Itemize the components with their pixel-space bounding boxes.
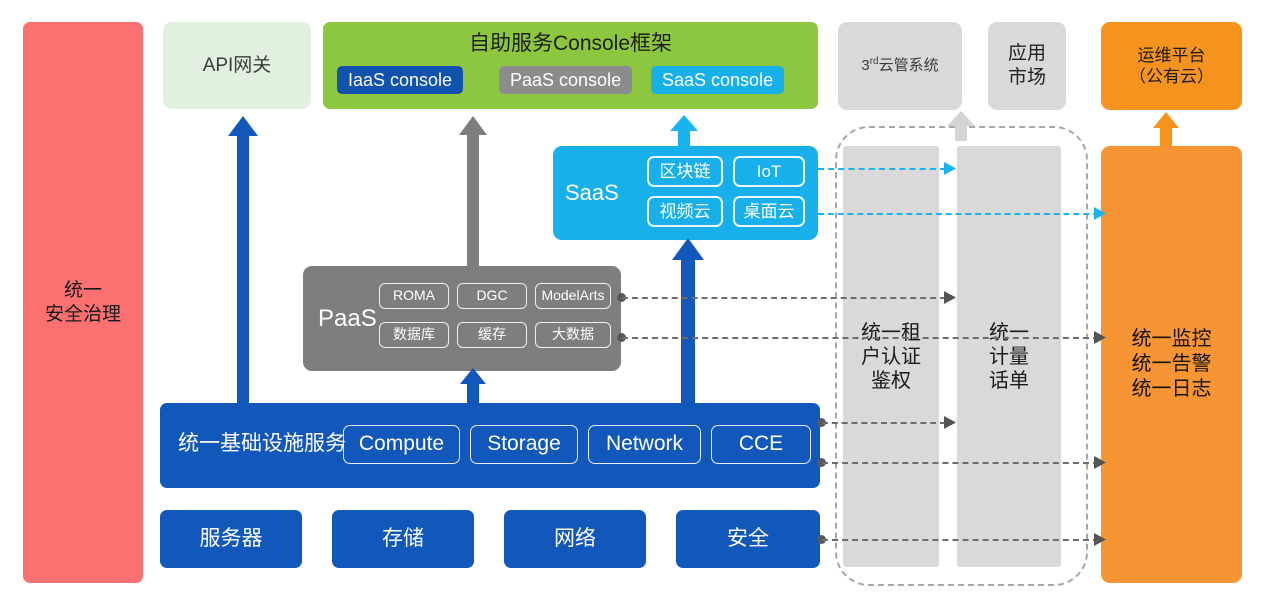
dashed-hardware-to-ops bbox=[822, 539, 1099, 541]
dashed-saas-to-ops bbox=[818, 213, 1099, 215]
paas-console-label: PaaS console bbox=[510, 69, 621, 92]
arrow-saas-to-console bbox=[669, 115, 699, 148]
security-governance-label: 统一 安全治理 bbox=[45, 279, 121, 327]
app-market-box[interactable]: 应用 市场 bbox=[988, 22, 1066, 110]
unified-metering-label: 统一 计量 话单 bbox=[989, 321, 1029, 393]
iaas-chip-label: Storage bbox=[487, 431, 561, 457]
paas-chip-cache[interactable]: 缓存 bbox=[457, 322, 527, 348]
hardware-label: 存储 bbox=[382, 526, 424, 552]
ops-platform-head-box[interactable]: 运维平台 （公有云） bbox=[1101, 22, 1242, 110]
paas-chip-modelarts[interactable]: ModelArts bbox=[535, 283, 611, 309]
saas-chip-label: 视频云 bbox=[660, 201, 711, 222]
paas-console-chip[interactable]: PaaS console bbox=[499, 66, 632, 94]
architecture-diagram: 统一 安全治理 API网关 自助服务Console框架 IaaS console… bbox=[0, 0, 1265, 605]
saas-layer-label: SaaS bbox=[565, 179, 619, 207]
ordinal-superscript: rd bbox=[870, 56, 879, 67]
iaas-chip-label: Network bbox=[606, 431, 683, 457]
hardware-box-server[interactable]: 服务器 bbox=[160, 510, 302, 568]
iaas-chip-label: CCE bbox=[739, 431, 783, 457]
iaas-layer-label: 统一基础设施服务 bbox=[178, 431, 346, 457]
app-market-label: 应用 市场 bbox=[1008, 42, 1046, 90]
dashed-iaas-to-ops bbox=[822, 462, 1099, 464]
paas-chip-label: DGC bbox=[476, 287, 507, 305]
paas-chip-dgc[interactable]: DGC bbox=[457, 283, 527, 309]
console-framework-box[interactable]: 自助服务Console框架 IaaS console PaaS console … bbox=[323, 22, 818, 109]
iaas-console-chip[interactable]: IaaS console bbox=[337, 66, 463, 94]
paas-chip-label: ROMA bbox=[393, 287, 435, 305]
console-framework-title: 自助服务Console框架 bbox=[323, 31, 818, 57]
paas-chip-label: 缓存 bbox=[478, 326, 506, 344]
arrowhead-saas-to-ops bbox=[1094, 207, 1106, 225]
iaas-chip-network[interactable]: Network bbox=[588, 425, 701, 464]
ops-platform-body-box[interactable]: 统一监控 统一告警 统一日志 bbox=[1101, 146, 1242, 583]
arrow-shared-to-ops-platform bbox=[1152, 112, 1180, 146]
saas-chip-desktop-cloud[interactable]: 桌面云 bbox=[733, 196, 805, 227]
saas-chip-label: IoT bbox=[757, 161, 782, 182]
paas-chip-bigdata[interactable]: 大数据 bbox=[535, 322, 611, 348]
saas-console-chip[interactable]: SaaS console bbox=[651, 66, 784, 94]
arrow-iaas-to-api-gateway bbox=[227, 116, 259, 406]
iaas-chip-cce[interactable]: CCE bbox=[711, 425, 811, 464]
dashed-saas-to-auth bbox=[818, 168, 946, 170]
arrowhead-paas-to-ops bbox=[1094, 331, 1106, 349]
paas-chip-label: 数据库 bbox=[393, 326, 435, 344]
saas-chip-iot[interactable]: IoT bbox=[733, 156, 805, 187]
saas-console-label: SaaS console bbox=[662, 69, 773, 92]
saas-chip-video-cloud[interactable]: 视频云 bbox=[647, 196, 723, 227]
arrow-paas-to-console bbox=[458, 116, 488, 268]
paas-chip-database[interactable]: 数据库 bbox=[379, 322, 449, 348]
security-governance-column[interactable]: 统一 安全治理 bbox=[23, 22, 143, 583]
hardware-box-storage[interactable]: 存储 bbox=[332, 510, 474, 568]
paas-chip-label: 大数据 bbox=[552, 326, 594, 344]
iaas-chip-storage[interactable]: Storage bbox=[470, 425, 578, 464]
arrow-iaas-to-saas bbox=[671, 238, 705, 406]
paas-chip-label: ModelArts bbox=[541, 287, 604, 305]
hardware-box-network[interactable]: 网络 bbox=[504, 510, 646, 568]
iaas-layer-box[interactable]: 统一基础设施服务 Compute Storage Network CCE bbox=[160, 403, 820, 488]
saas-layer-box[interactable]: SaaS 区块链 IoT 视频云 桌面云 bbox=[553, 146, 818, 240]
unified-tenant-auth-column[interactable]: 统一租 户认证 鉴权 bbox=[843, 146, 939, 567]
third-party-cloud-mgmt-box[interactable]: 3rd云管系统 bbox=[838, 22, 962, 110]
arrow-shared-to-third-party bbox=[946, 111, 976, 141]
unified-metering-column[interactable]: 统一 计量 话单 bbox=[957, 146, 1061, 567]
ops-platform-body-label: 统一监控 统一告警 统一日志 bbox=[1132, 327, 1212, 402]
saas-chip-label: 桌面云 bbox=[744, 201, 795, 222]
hardware-label: 服务器 bbox=[200, 526, 263, 552]
saas-chip-label: 区块链 bbox=[660, 161, 711, 182]
arrowhead-iaas-to-ops bbox=[1094, 456, 1106, 474]
dashed-iaas-to-auth bbox=[822, 422, 946, 424]
iaas-chip-compute[interactable]: Compute bbox=[343, 425, 460, 464]
hardware-box-security[interactable]: 安全 bbox=[676, 510, 820, 568]
arrowhead-saas-to-auth bbox=[944, 162, 956, 180]
api-gateway-box[interactable]: API网关 bbox=[163, 22, 311, 109]
dashed-paas-to-ops bbox=[622, 337, 1099, 339]
hardware-label: 网络 bbox=[554, 526, 596, 552]
dashed-paas-to-auth bbox=[622, 297, 946, 299]
paas-chip-roma[interactable]: ROMA bbox=[379, 283, 449, 309]
iaas-chip-label: Compute bbox=[359, 431, 444, 457]
unified-tenant-auth-label: 统一租 户认证 鉴权 bbox=[861, 321, 921, 393]
iaas-console-label: IaaS console bbox=[348, 69, 452, 92]
arrowhead-paas-to-auth bbox=[944, 291, 956, 309]
paas-layer-box[interactable]: PaaS ROMA DGC ModelArts 数据库 缓存 大数据 bbox=[303, 266, 621, 371]
paas-layer-label: PaaS bbox=[318, 304, 377, 334]
hardware-label: 安全 bbox=[727, 526, 769, 552]
arrowhead-iaas-to-auth bbox=[944, 416, 956, 434]
third-party-cloud-mgmt-label: 3rd云管系统 bbox=[861, 56, 938, 76]
api-gateway-label: API网关 bbox=[203, 54, 272, 78]
arrowhead-hardware-to-ops bbox=[1094, 533, 1106, 551]
ops-platform-head-label: 运维平台 （公有云） bbox=[1129, 45, 1214, 88]
saas-chip-blockchain[interactable]: 区块链 bbox=[647, 156, 723, 187]
arrow-iaas-to-paas bbox=[459, 368, 487, 405]
